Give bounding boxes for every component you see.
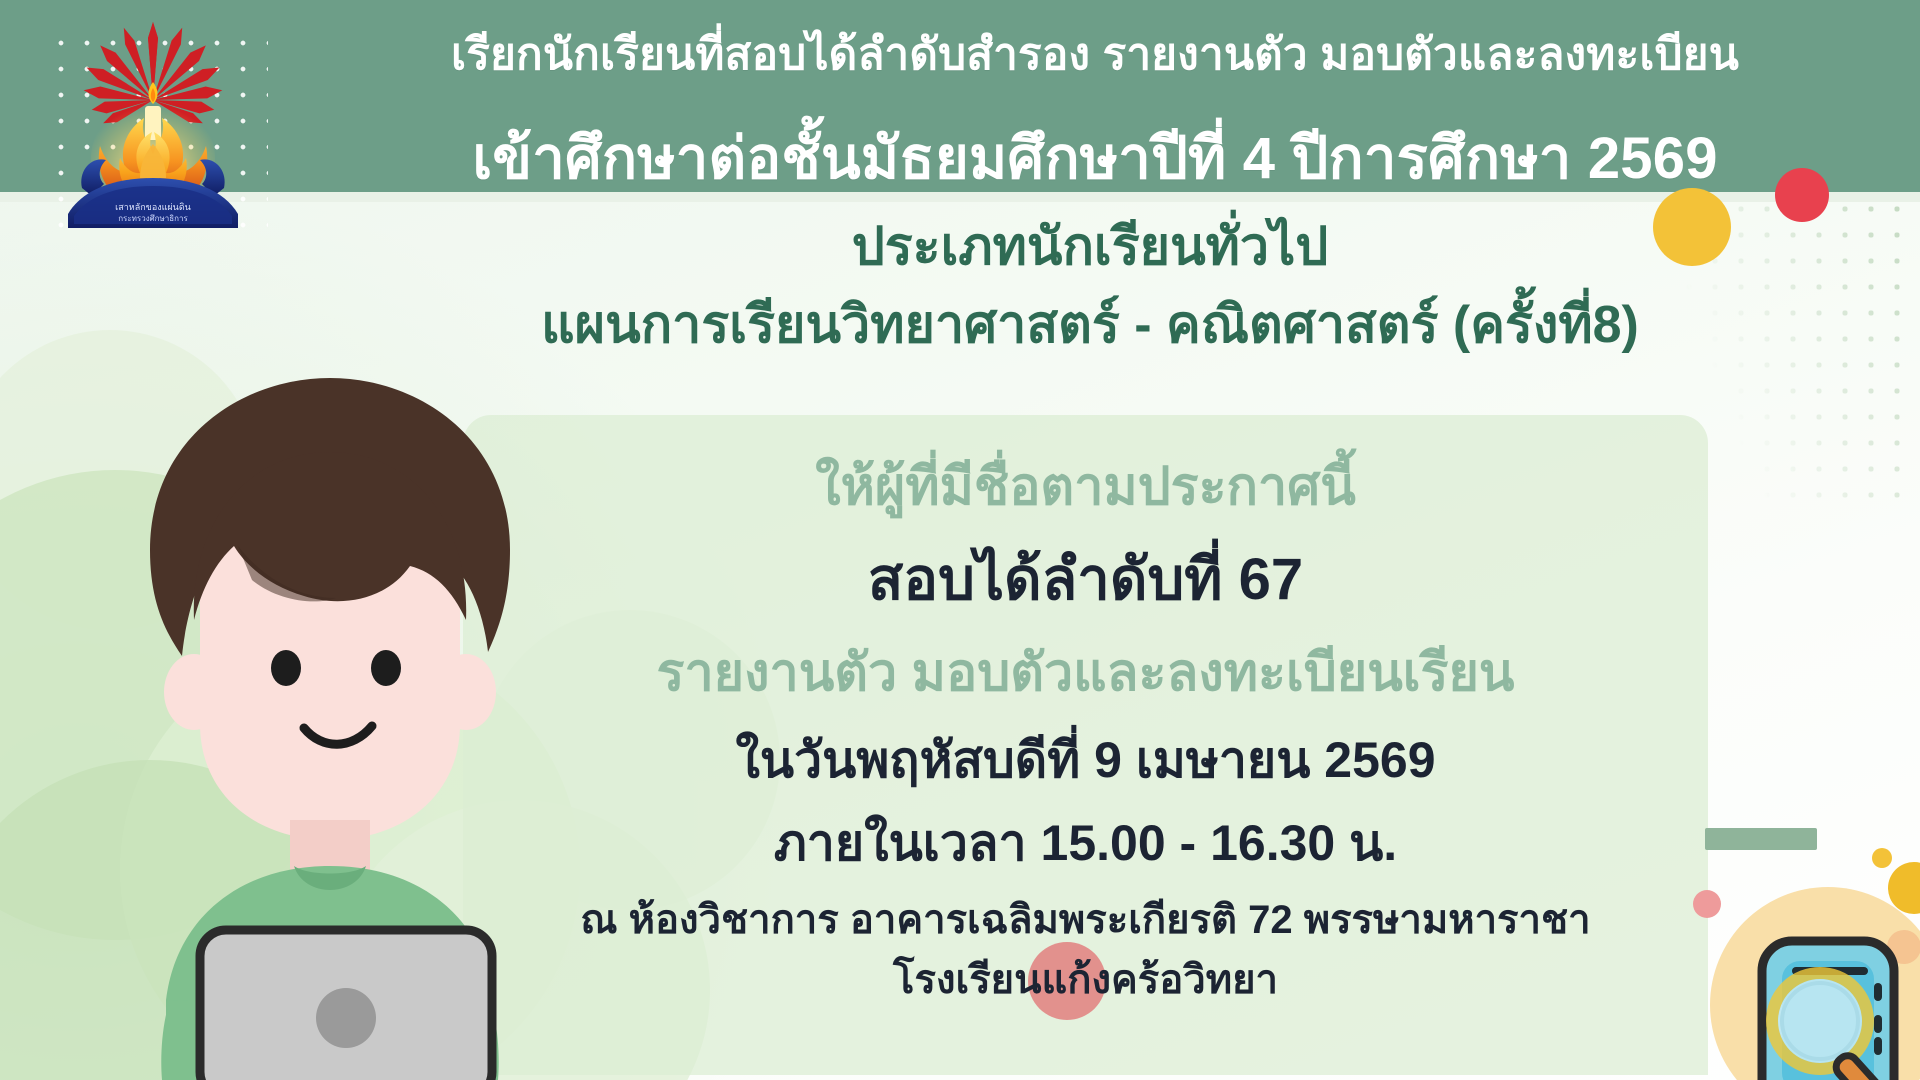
subtitle-line1: ประเภทนักเรียนทั่วไป — [330, 215, 1850, 279]
boy-with-laptop-illustration — [90, 300, 570, 1080]
svg-text:เสาหลักของแผ่นดิน: เสาหลักของแผ่นดิน — [115, 202, 191, 212]
announcement-poster: เสาหลักของแผ่นดิน กระทรวงศึกษาธิการ เรีย… — [0, 0, 1920, 1080]
header-title: เรียกนักเรียนที่สอบได้ลำดับสำรอง รายงานต… — [350, 22, 1840, 203]
header-title-line1: เรียกนักเรียนที่สอบได้ลำดับสำรอง รายงานต… — [451, 30, 1739, 79]
content-card-text: ให้ผู้ที่มีชื่อตามประกาศนี้ สอบได้ลำดับท… — [463, 430, 1708, 1005]
decorative-red-dot — [1775, 168, 1829, 222]
ministry-emblem-icon: เสาหลักของแผ่นดิน กระทรวงศึกษาธิการ — [48, 18, 258, 228]
body-line-6-venue: ณ ห้องวิชาการ อาคารเฉลิมพระเกียรติ 72 พร… — [463, 896, 1708, 945]
header-title-line2: เข้าศึกษาต่อชั้นมัธยมศึกษาปีที่ 4 ปีการศ… — [350, 115, 1840, 203]
body-line-3: รายงานตัว มอบตัวและลงทะเบียนเรียน — [463, 642, 1708, 705]
body-line-4-date: ในวันพฤหัสบดีที่ 9 เมษายน 2569 — [463, 730, 1708, 791]
svg-text:กระทรวงศึกษาธิการ: กระทรวงศึกษาธิการ — [118, 214, 188, 223]
decorative-dash-bar — [1705, 828, 1817, 850]
body-line-2-rank: สอบได้ลำดับที่ 67 — [463, 545, 1708, 616]
body-line-1: ให้ผู้ที่มีชื่อตามประกาศนี้ — [463, 456, 1708, 519]
body-line-7-school: โรงเรียนแก้งคร้อวิทยา — [463, 956, 1708, 1005]
magnifier-over-screen-icon — [1700, 855, 1920, 1080]
body-line-5-time: ภายในเวลา 15.00 - 16.30 น. — [463, 813, 1708, 874]
